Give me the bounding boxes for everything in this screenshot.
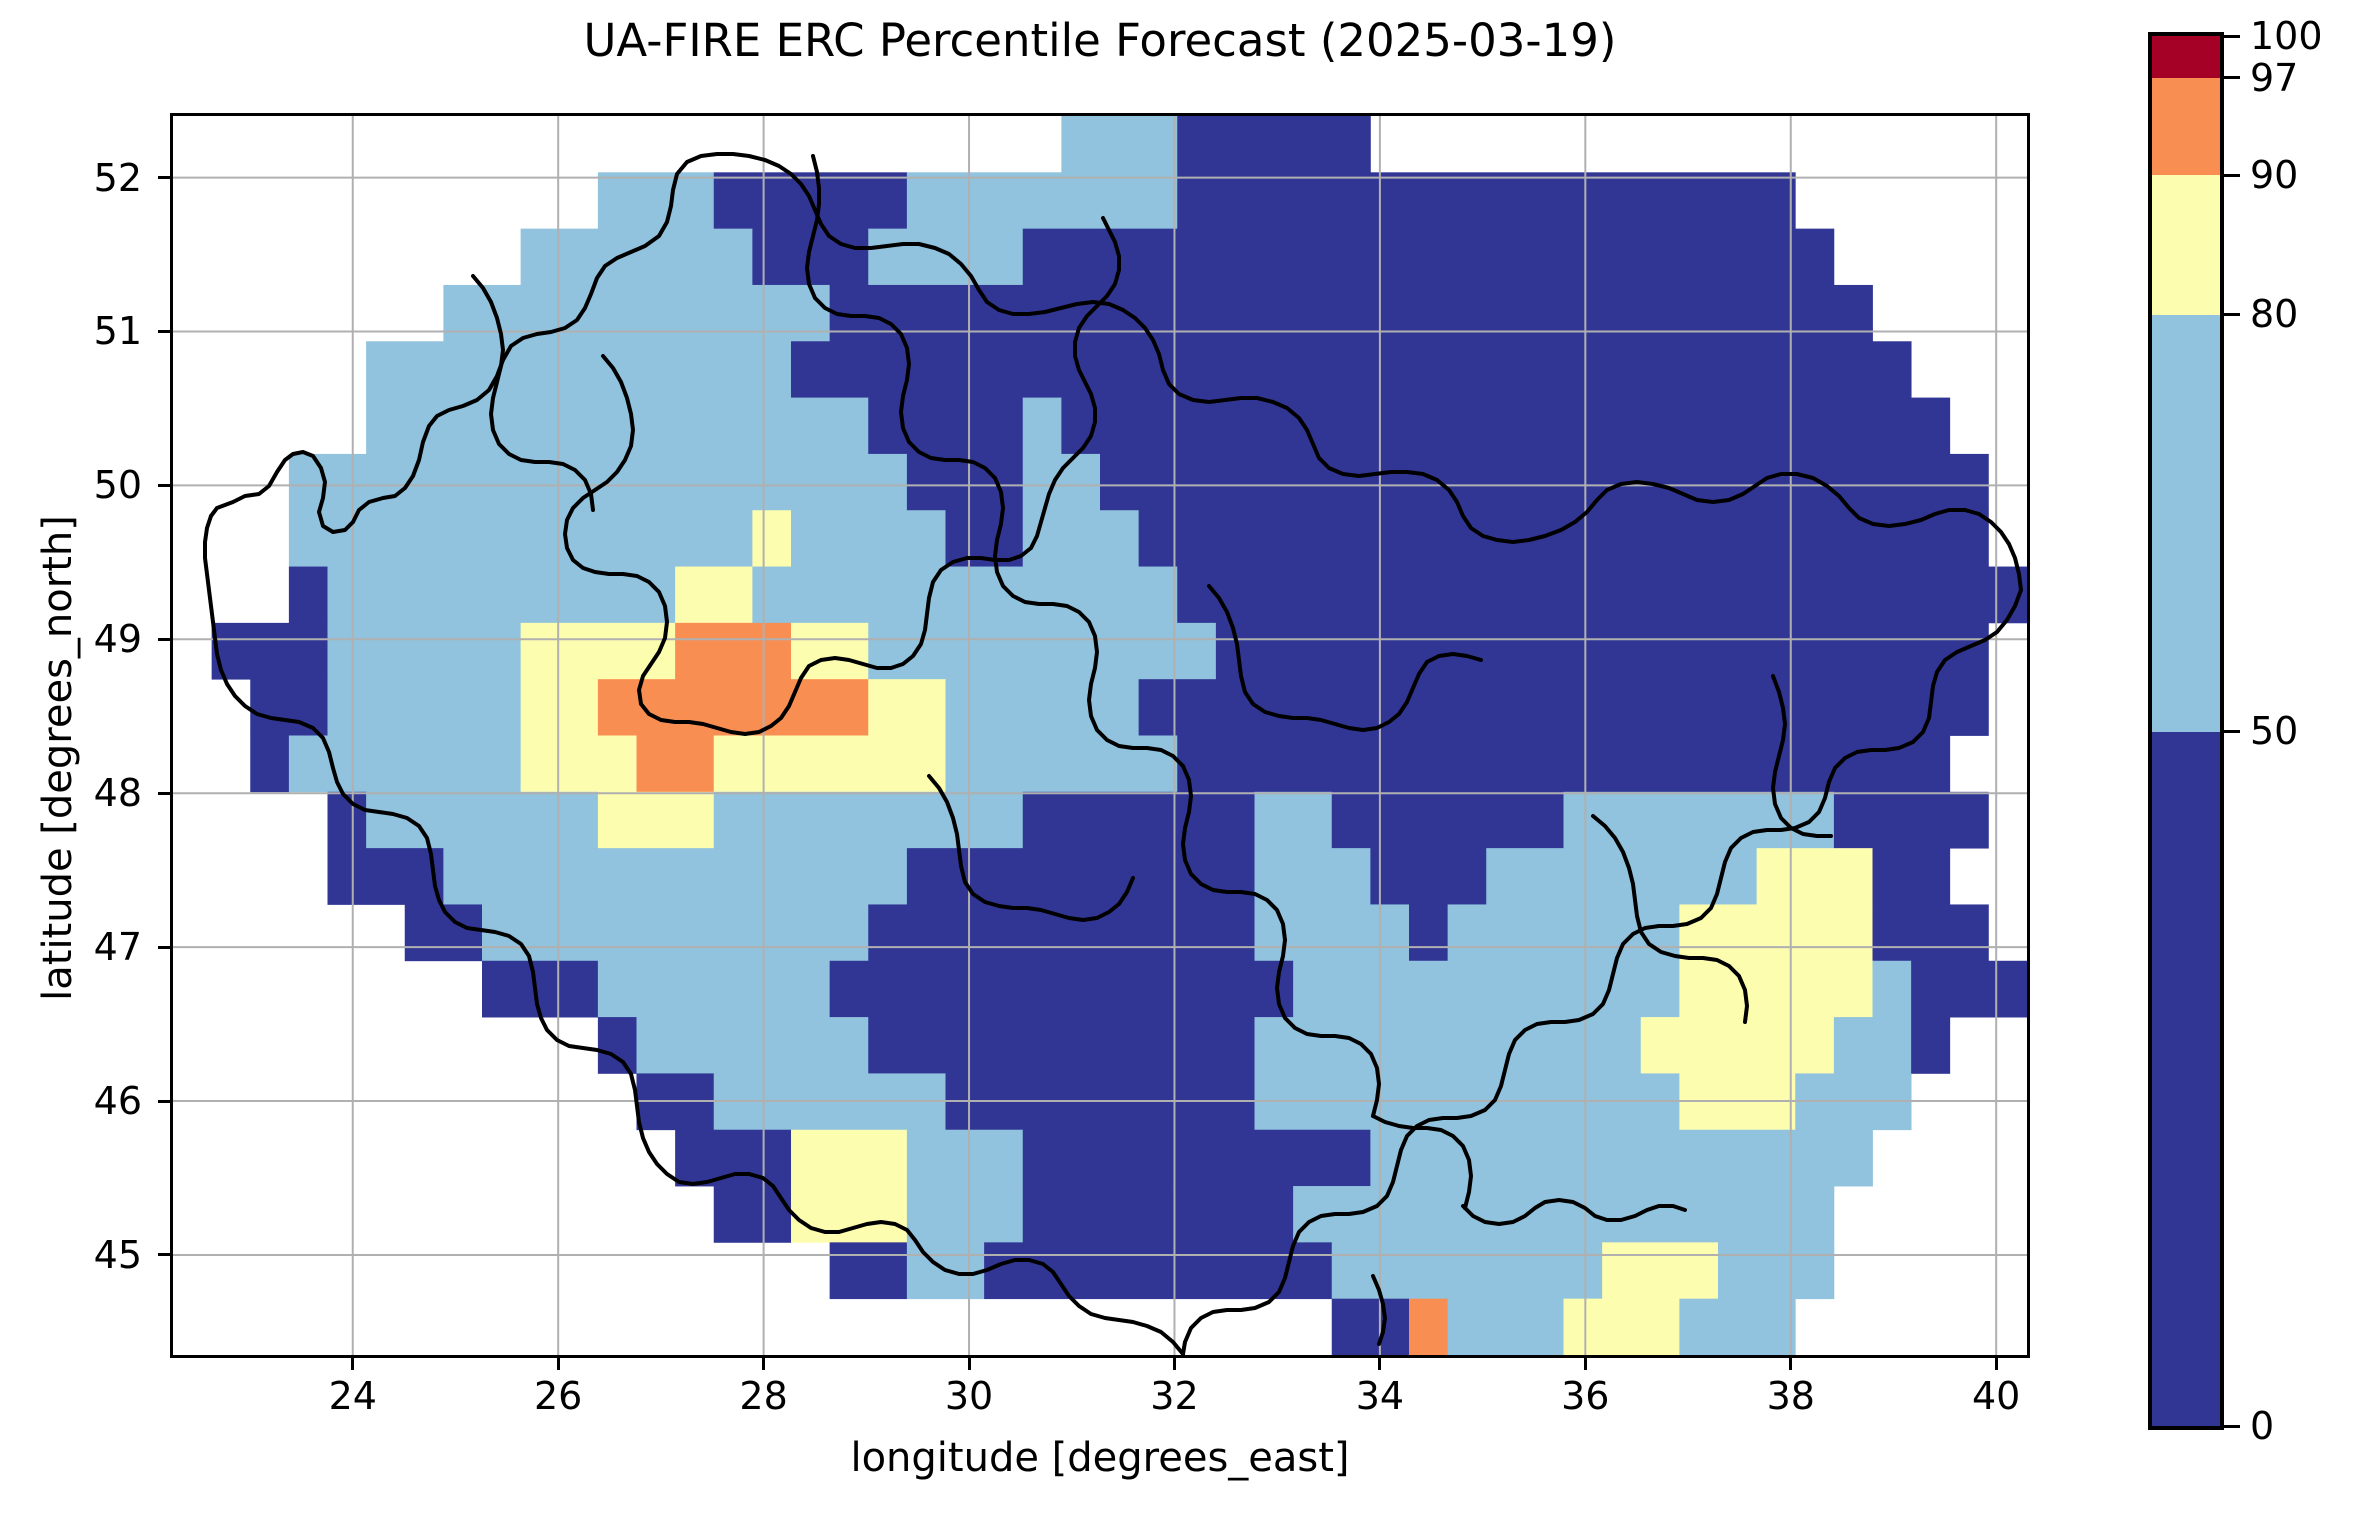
oblast-border-central-2 [1045, 218, 1119, 508]
colorbar[interactable] [2148, 32, 2224, 1430]
colorbar-tick-label: 90 [2250, 153, 2298, 197]
colorbar-tick-label: 0 [2250, 1404, 2274, 1448]
oblast-border-east-2 [1773, 676, 1831, 836]
map-clip [173, 116, 2027, 1355]
border-east [1183, 590, 2021, 1354]
x-axis-tick-label: 34 [1356, 1374, 1404, 1418]
y-axis-tick-label: 47 [94, 925, 142, 969]
oblast-border-central-1 [689, 508, 1045, 734]
colorbar-tick-label: 80 [2250, 292, 2298, 336]
x-axis-tick [1173, 1358, 1176, 1370]
y-axis-tick-label: 48 [94, 771, 142, 815]
oblast-border-south-3 [1027, 878, 1133, 920]
y-axis-tick-label: 52 [94, 156, 142, 200]
colorbar-tick [2224, 76, 2240, 79]
x-axis-tick [1378, 1358, 1381, 1370]
x-axis-tick [1584, 1358, 1587, 1370]
x-axis-tick-label: 32 [1150, 1374, 1198, 1418]
y-axis-tick-label: 49 [94, 617, 142, 661]
y-axis-tick-label: 46 [94, 1079, 142, 1123]
oblast-border-west-1 [565, 356, 689, 722]
y-axis-tick-label: 50 [94, 463, 142, 507]
x-axis-tick [1995, 1358, 1998, 1370]
y-axis-tick [158, 638, 170, 641]
colorbar-tick-label: 50 [2250, 709, 2298, 753]
y-axis-tick [158, 1100, 170, 1103]
administrative-borders [173, 116, 2027, 1355]
y-axis-tick [158, 792, 170, 795]
x-axis-tick-label: 36 [1561, 1374, 1609, 1418]
y-axis-tick [158, 330, 170, 333]
x-axis-tick [1789, 1358, 1792, 1370]
x-axis-tick [762, 1358, 765, 1370]
crimea-west [1373, 1276, 1385, 1344]
colorbar-tick [2224, 35, 2240, 38]
colorbar-tick-label: 97 [2250, 56, 2298, 100]
border-south-west [205, 516, 1183, 1354]
y-axis-tick-label: 51 [94, 309, 142, 353]
x-axis-tick [557, 1358, 560, 1370]
y-axis-label: latitude [degrees_north] [35, 438, 81, 1078]
colorbar-tick [2224, 1425, 2240, 1428]
figure-canvas: UA-FIRE ERC Percentile Forecast (2025-03… [0, 0, 2354, 1517]
y-axis-tick [158, 1253, 170, 1256]
x-axis-tick-label: 40 [1972, 1374, 2020, 1418]
y-axis-tick [158, 484, 170, 487]
oblast-border-nw [473, 276, 593, 510]
colorbar-segment [2152, 78, 2220, 176]
x-axis-tick [351, 1358, 354, 1370]
map-plot-area[interactable] [170, 113, 2030, 1358]
oblast-border-central-3 [1209, 586, 1307, 718]
x-axis-label: longitude [degrees_east] [170, 1435, 2030, 1481]
x-axis-tick-label: 24 [329, 1374, 377, 1418]
colorbar-segment [2152, 314, 2220, 732]
x-axis-tick-label: 28 [739, 1374, 787, 1418]
x-axis-tick-label: 38 [1767, 1374, 1815, 1418]
oblast-border-southeast [1277, 940, 1379, 1116]
oblast-border-central-4 [1307, 654, 1481, 730]
colorbar-segment [2152, 36, 2220, 78]
chart-title: UA-FIRE ERC Percentile Forecast (2025-03… [170, 16, 2030, 66]
y-axis-tick [158, 946, 170, 949]
colorbar-tick [2224, 174, 2240, 177]
colorbar-tick-label: 100 [2250, 14, 2323, 58]
colorbar-segment [2152, 731, 2220, 1427]
oblast-border-east-1 [1593, 816, 1747, 1022]
oblast-border-south-2 [929, 776, 1027, 908]
x-axis-tick-label: 26 [534, 1374, 582, 1418]
crimea-coast [1463, 1200, 1685, 1224]
oblast-border-north-central [807, 156, 1285, 940]
colorbar-tick [2224, 730, 2240, 733]
border-north [211, 154, 2021, 590]
colorbar-segment [2152, 175, 2220, 315]
x-axis-tick-label: 30 [945, 1374, 993, 1418]
x-axis-tick [968, 1358, 971, 1370]
colorbar-tick [2224, 313, 2240, 316]
y-axis-tick [158, 176, 170, 179]
y-axis-tick-label: 45 [94, 1233, 142, 1277]
